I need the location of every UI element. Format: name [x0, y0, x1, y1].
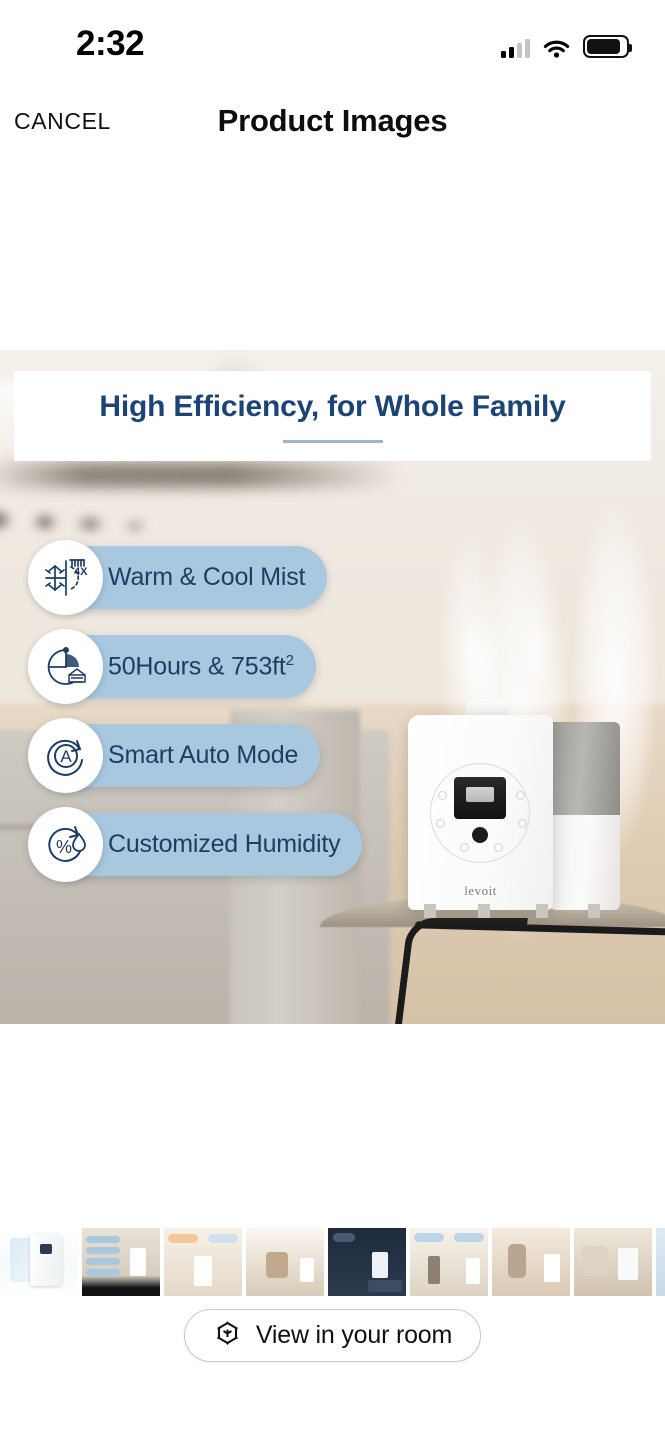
battery-icon: [583, 35, 629, 58]
thumbnail-packaging-box[interactable]: [656, 1228, 665, 1296]
control-button-5: [460, 843, 469, 852]
humidifier-tank-lower: [550, 815, 620, 910]
control-button-3: [436, 819, 445, 828]
feature-label-warm-cool-mist: Warm & Cool Mist: [108, 563, 305, 592]
ar-cube-icon: [213, 1319, 242, 1353]
thumbnail-feature-callouts[interactable]: [82, 1228, 160, 1296]
svg-text:A: A: [60, 747, 72, 766]
humidifier-display: [454, 777, 506, 819]
auto-mode-a-icon: A: [28, 718, 103, 793]
control-button-4: [518, 819, 527, 828]
thumbnail-easy-refill-hands[interactable]: [574, 1228, 652, 1296]
status-time: 2:32: [76, 24, 144, 64]
control-button-2: [516, 791, 525, 800]
feature-pill-warm-cool-mist: 4X Warm & Cool Mist: [38, 546, 327, 609]
thumbnail-night-bedroom[interactable]: [328, 1228, 406, 1296]
status-indicators: [501, 30, 629, 58]
thumbnail-large-space[interactable]: [410, 1228, 488, 1296]
control-button-1: [438, 791, 447, 800]
humidifier-tank-upper: [550, 722, 620, 827]
wifi-icon: [543, 38, 570, 58]
clock-room-icon: [28, 629, 103, 704]
feature-label-runtime-coverage: 50Hours & 753ft2: [108, 652, 294, 681]
thumbnail-carousel[interactable]: [0, 1228, 665, 1300]
feature-pill-smart-auto-mode: A Smart Auto Mode: [38, 724, 320, 787]
banner-divider: [283, 440, 383, 443]
hero-banner: High Efficiency, for Whole Family: [14, 371, 651, 461]
feature-pill-list: 4X Warm & Cool Mist 50Hours & 753ft2: [38, 546, 362, 902]
feature-superscript: 2: [286, 652, 294, 669]
control-button-6: [494, 843, 503, 852]
feature-pill-runtime-coverage: 50Hours & 753ft2: [38, 635, 316, 698]
feature-pill-customized-humidity: % Customized Humidity: [38, 813, 362, 876]
table-leg: [392, 918, 528, 1024]
thumbnail-woman-refill[interactable]: [492, 1228, 570, 1296]
status-bar: 2:32: [0, 0, 665, 78]
nav-bar: CANCEL Product Images: [0, 78, 665, 178]
thumbnail-product-front[interactable]: [0, 1228, 78, 1296]
page-title: Product Images: [0, 103, 665, 139]
ar-button-label: View in your room: [256, 1321, 452, 1350]
humidifier-body: levoit: [408, 715, 553, 910]
humidifier-feet: [416, 904, 616, 918]
background-objects: [0, 500, 235, 540]
humidity-percent-droplet-icon: %: [28, 807, 103, 882]
humidifier-product: levoit: [408, 695, 620, 910]
thumbnail-family-living-room[interactable]: [246, 1228, 324, 1296]
snowflake-heat-4x-icon: 4X: [28, 540, 103, 615]
cellular-signal-icon: [501, 38, 530, 58]
banner-title: High Efficiency, for Whole Family: [99, 390, 565, 424]
snowflake-4x-badge: 4X: [74, 566, 88, 578]
brand-logo: levoit: [408, 883, 553, 899]
power-knob: [472, 827, 488, 843]
feature-label-smart-auto-mode: Smart Auto Mode: [108, 741, 298, 770]
svg-text:%: %: [55, 837, 71, 857]
thumbnail-bedroom-scene[interactable]: [164, 1228, 242, 1296]
feature-label-customized-humidity: Customized Humidity: [108, 830, 340, 859]
view-in-your-room-button[interactable]: View in your room: [184, 1309, 481, 1362]
